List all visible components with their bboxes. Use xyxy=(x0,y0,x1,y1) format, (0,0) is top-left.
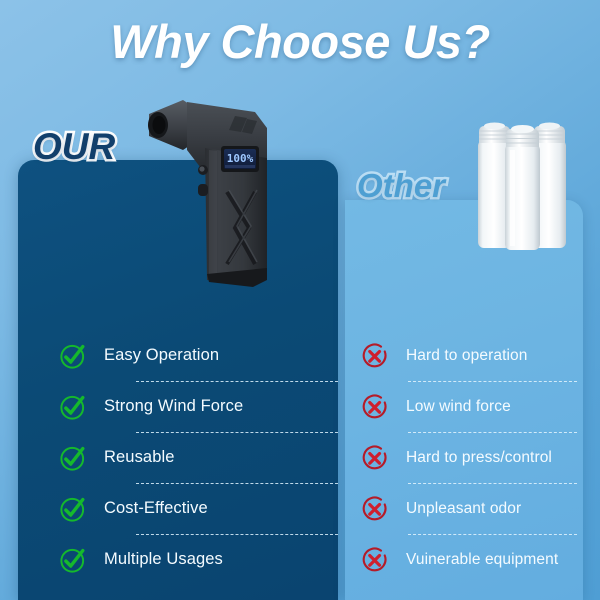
list-item: Multiple Usages xyxy=(58,534,338,585)
list-item-label: Cost-Effective xyxy=(104,499,208,518)
list-item: Vuinerable equipment xyxy=(360,534,583,585)
list-item-label: Low wind force xyxy=(406,398,511,416)
list-item-label: Multiple Usages xyxy=(104,550,223,569)
cross-circle-icon xyxy=(360,392,390,422)
list-item-label: Unpleasant odor xyxy=(406,500,521,518)
list-item: Strong Wind Force xyxy=(58,381,338,432)
product-image-our: 100% xyxy=(143,88,283,290)
list-item: Cost-Effective xyxy=(58,483,338,534)
list-item-label: Easy Operation xyxy=(104,346,219,365)
cross-circle-icon xyxy=(360,443,390,473)
list-item: Reusable xyxy=(58,432,338,483)
list-item: Hard to press/control xyxy=(360,432,583,483)
list-item: Easy Operation xyxy=(58,330,338,381)
check-circle-icon xyxy=(58,392,88,422)
list-item: Hard to operation xyxy=(360,330,583,381)
our-feature-list: Easy Operation Strong Wind Force Reusabl… xyxy=(18,330,338,585)
check-circle-icon xyxy=(58,494,88,524)
check-circle-icon xyxy=(58,443,88,473)
page-title: Why Choose Us? xyxy=(0,14,600,69)
list-item: Unpleasant odor xyxy=(360,483,583,534)
cross-circle-icon xyxy=(360,494,390,524)
list-item-label: Hard to operation xyxy=(406,347,527,365)
list-item-label: Reusable xyxy=(104,448,175,467)
other-badge: Other xyxy=(357,167,445,205)
list-item-label: Strong Wind Force xyxy=(104,397,243,416)
other-feature-list: Hard to operation Low wind force Hard to… xyxy=(345,330,583,585)
check-circle-icon xyxy=(58,341,88,371)
cross-circle-icon xyxy=(360,341,390,371)
product-image-other xyxy=(474,110,570,250)
our-badge: OUR xyxy=(33,126,115,168)
svg-text:100%: 100% xyxy=(227,152,254,165)
check-circle-icon xyxy=(58,545,88,575)
list-item-label: Hard to press/control xyxy=(406,449,552,467)
list-item-label: Vuinerable equipment xyxy=(406,551,558,569)
cross-circle-icon xyxy=(360,545,390,575)
list-item: Low wind force xyxy=(360,381,583,432)
other-panel: Hard to operation Low wind force Hard to… xyxy=(345,200,583,600)
comparison-infographic: Why Choose Us? Easy Operation Strong Win… xyxy=(0,0,600,600)
